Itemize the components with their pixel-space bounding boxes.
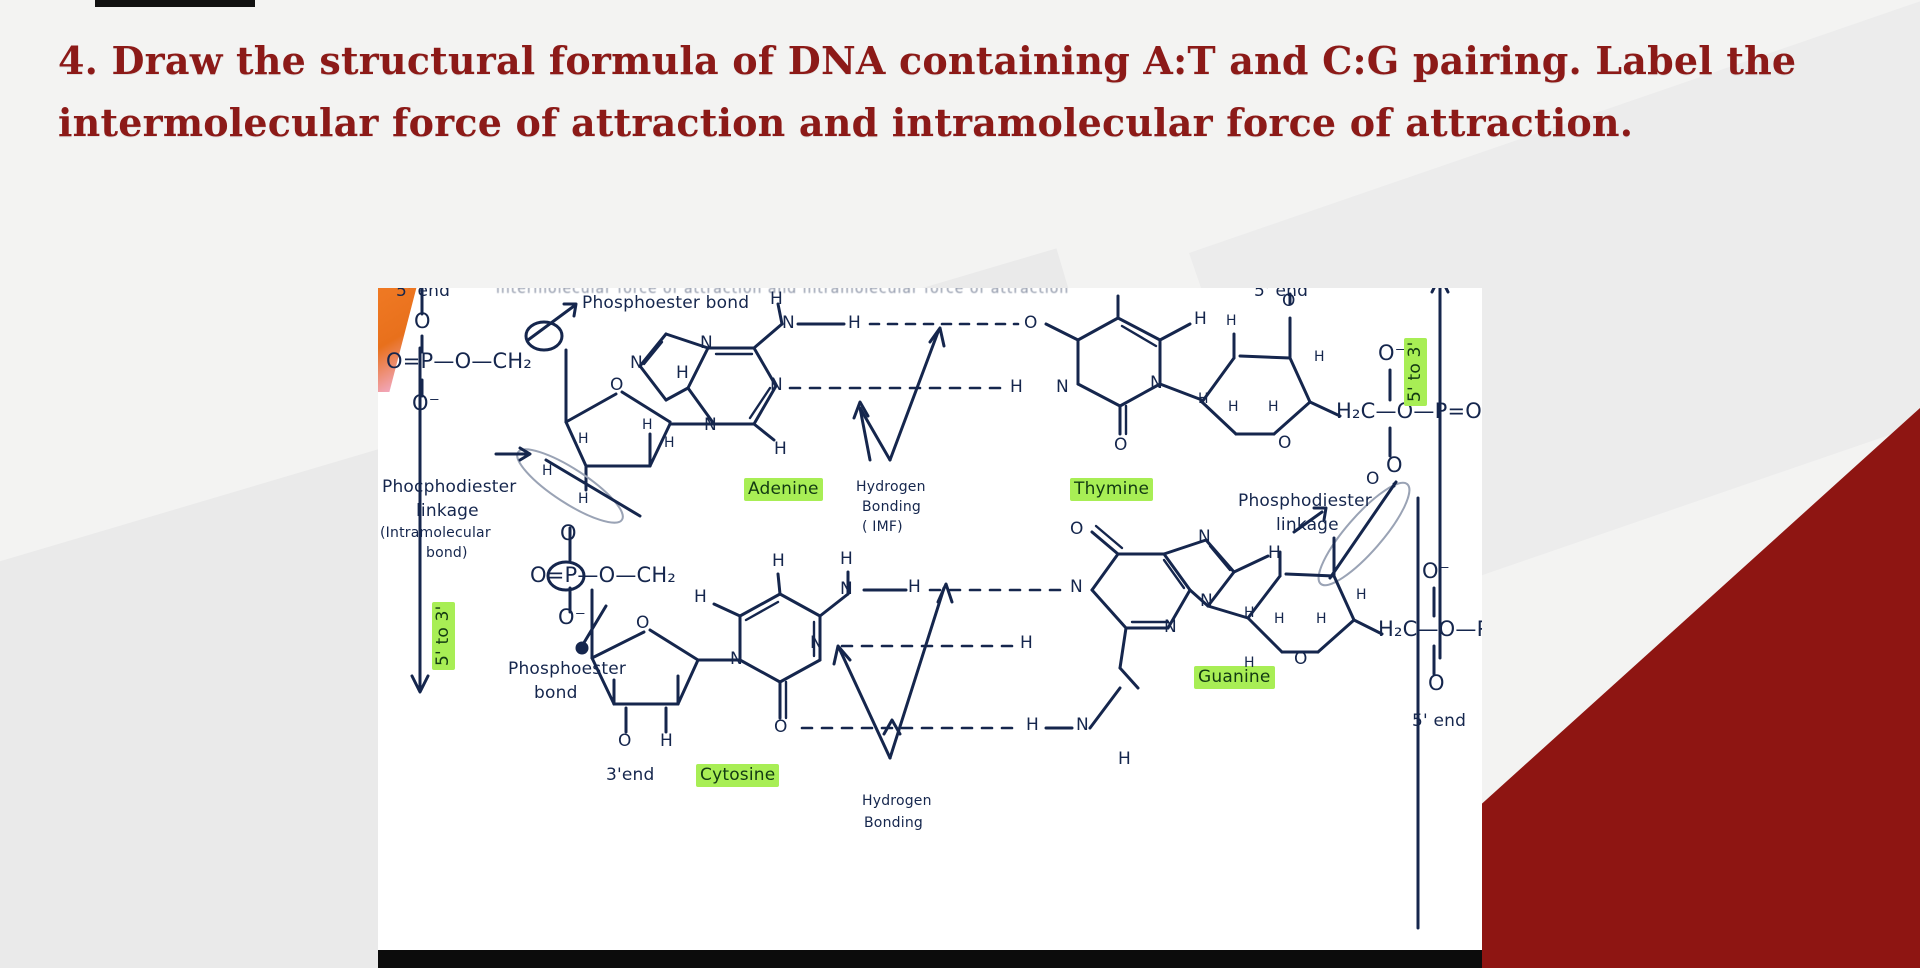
label-phosphoester-bond-top: Phosphoester bond xyxy=(582,294,749,313)
formula-oxygen-anion-top-right: O⁻ xyxy=(1378,342,1406,366)
label-phosphodiester-left-1: Phocphodiester xyxy=(382,478,516,497)
atom-h-sugar-tl-5: H xyxy=(578,492,589,508)
atom-h-sugar-tr-4: H xyxy=(1268,400,1279,416)
formula-oxygen-top-right-2: O xyxy=(1386,454,1403,478)
atom-h-guanine-c8: H xyxy=(1268,544,1281,563)
label-hydrogen-bonding-bottom-1: Hydrogen xyxy=(862,794,932,810)
atom-o-sugar-tr: O xyxy=(1278,434,1292,453)
label-direction-left-strand: 5' to 3' xyxy=(434,602,453,670)
atom-ch3-thymine: CH₃ xyxy=(1104,288,1131,290)
formula-phosphate-top-left: O=P—O—CH₂ xyxy=(386,350,532,374)
atom-n-adenine-n1: N xyxy=(770,376,783,395)
page-title: 4. Draw the structural formula of DNA co… xyxy=(58,30,1858,153)
label-phosphoester-bond-bottom-2: bond xyxy=(534,684,578,703)
atom-h-sugar-tl-3: H xyxy=(664,436,675,452)
atom-n-adenine-n7: N xyxy=(700,334,713,353)
formula-oxygen-bottom-left: O xyxy=(560,522,577,546)
atom-oxygen-sugar-bl-2: O xyxy=(618,732,632,751)
photo-bottom-black-strip xyxy=(378,950,1482,968)
formula-phosphate-bottom-right: H₂C—O—P=O xyxy=(1378,618,1482,642)
decorative-black-bar-top xyxy=(95,0,255,7)
atom-n-guanine-n7: N xyxy=(1198,528,1211,547)
atom-h-cytosine-c6: H xyxy=(694,588,707,607)
atom-h-sugar-tr-1: H xyxy=(1198,392,1209,408)
atom-o-bottom-right-top: O xyxy=(1366,470,1380,489)
atom-h-adenine-c2: H xyxy=(774,440,787,459)
atom-n-adenine-n6: N xyxy=(782,314,795,333)
atom-o-cytosine-c2: O xyxy=(774,718,788,737)
atom-o-thymine-c2: O xyxy=(1114,436,1128,455)
guanine-text: Guanine xyxy=(1194,666,1275,689)
label-phosphodiester-left-4: bond) xyxy=(426,546,468,562)
dna-structure-drawing xyxy=(378,288,1482,968)
atom-n-guanine-n9: N xyxy=(1200,592,1213,611)
atom-h-sugar-tl-2: H xyxy=(642,418,653,434)
label-phosphodiester-right-2: linkage xyxy=(1276,516,1339,535)
thymine-text: Thymine xyxy=(1070,478,1153,501)
atom-h-sugar-br-3: H xyxy=(1316,612,1327,628)
formula-oxygen-top-left: O xyxy=(414,310,431,334)
atom-h-sugar-tr-3: H xyxy=(1228,400,1239,416)
atom-h-adenine-bond: H xyxy=(848,314,861,333)
atom-n-cytosine-n1: N xyxy=(730,650,743,669)
direction-right-text: 5' to 3' xyxy=(1404,338,1427,406)
atom-h-guanine-amine-2: H xyxy=(1118,750,1131,769)
atom-oxygen-sugar-top-left: O xyxy=(610,376,624,395)
atom-h-cytosine-donor: H xyxy=(908,578,921,597)
atom-n-thymine-n3: N xyxy=(1056,378,1069,397)
atom-h-cytosine-c5: H xyxy=(772,552,785,571)
label-phosphoester-bond-bottom-1: Phosphoester xyxy=(508,660,626,679)
atom-h-sugar-tr-2: H xyxy=(1226,314,1237,330)
atom-o-sugar-br: O xyxy=(1294,650,1308,669)
adenine-text: Adenine xyxy=(744,478,823,501)
atom-h-sugar-tr-5: H xyxy=(1314,350,1325,366)
atom-n-thymine-n1: N xyxy=(1150,374,1163,393)
atom-h-guanine-n1: H xyxy=(1020,634,1033,653)
atom-h-sugar-br-4: H xyxy=(1356,588,1367,604)
formula-oxygen-bottom-right-2: O xyxy=(1428,672,1445,696)
label-hydrogen-bonding-top-2: Bonding xyxy=(862,500,921,516)
atom-o-thymine-c4: O xyxy=(1024,314,1038,333)
label-base-guanine: Guanine xyxy=(1194,668,1275,687)
atom-h-adenine-left: H xyxy=(676,364,689,383)
formula-oxygen-anion-bottom-left: O⁻ xyxy=(558,606,586,630)
formula-oxygen-anion-top-left: O⁻ xyxy=(412,392,440,416)
label-5prime-end-bottom-right: 5' end xyxy=(1412,712,1466,731)
dna-diagram-image: intermolecular force of attraction and i… xyxy=(378,288,1482,968)
atom-h-guanine-amine-1: H xyxy=(1026,716,1039,735)
atom-n-adenine-n9: N xyxy=(630,354,643,373)
label-phosphodiester-left-3: (Intramolecular xyxy=(380,526,491,542)
atom-h-sugar-br-5: H xyxy=(1244,656,1255,672)
label-base-adenine: Adenine xyxy=(744,480,823,499)
atom-n-guanine-n3: N xyxy=(1164,618,1177,637)
atom-h-sugar-br-2: H xyxy=(1274,612,1285,628)
atom-n-adenine-n3: N xyxy=(704,416,717,435)
cytosine-text: Cytosine xyxy=(696,764,779,787)
finger-in-photo xyxy=(378,288,444,392)
atom-h-thymine-n3: H xyxy=(1010,378,1023,397)
label-hydrogen-bonding-top-3: ( IMF) xyxy=(862,520,903,536)
atom-h-sugar-br-1: H xyxy=(1244,606,1255,622)
label-direction-right-strand: 5' to 3' xyxy=(1406,338,1425,406)
formula-phosphate-bottom-left: O=P—O—CH₂ xyxy=(530,564,676,588)
atom-h-sugar-tl-4: H xyxy=(542,464,553,480)
atom-n-guanine-n2: N xyxy=(1076,716,1089,735)
formula-oxygen-anion-bottom-right: O⁻ xyxy=(1422,560,1450,584)
atom-oxygen-sugar-bottom-left: O xyxy=(636,614,650,633)
atom-h-cytosine-n4: H xyxy=(840,550,853,569)
atom-h-sugar-bl: H xyxy=(660,732,673,751)
label-5prime-end-top-left: 5' end xyxy=(396,288,450,301)
atom-n-cytosine-n4: N xyxy=(840,580,853,599)
label-hydrogen-bonding-top-1: Hydrogen xyxy=(856,480,926,496)
atom-h-adenine-n6: H xyxy=(770,290,783,309)
atom-o-top-right-5prime: O xyxy=(1282,292,1296,311)
slide-canvas: 4. Draw the structural formula of DNA co… xyxy=(0,0,1920,968)
label-phosphodiester-right-1: Phosphodiester xyxy=(1238,492,1372,511)
label-base-thymine: Thymine xyxy=(1070,480,1153,499)
atom-n-cytosine-n3: N xyxy=(810,634,823,653)
atom-o-guanine-c6: O xyxy=(1070,520,1084,539)
label-hydrogen-bonding-bottom-2: Bonding xyxy=(864,816,923,832)
label-phosphodiester-left-2: linkage xyxy=(416,502,479,521)
atom-h-thymine-c6: H xyxy=(1194,310,1207,329)
atom-h-sugar-tl-1: H xyxy=(578,432,589,448)
label-3prime-end: 3'end xyxy=(606,766,655,785)
direction-left-text: 5' to 3' xyxy=(432,602,455,670)
atom-n-guanine-n1: N xyxy=(1070,578,1083,597)
label-base-cytosine: Cytosine xyxy=(696,766,779,785)
